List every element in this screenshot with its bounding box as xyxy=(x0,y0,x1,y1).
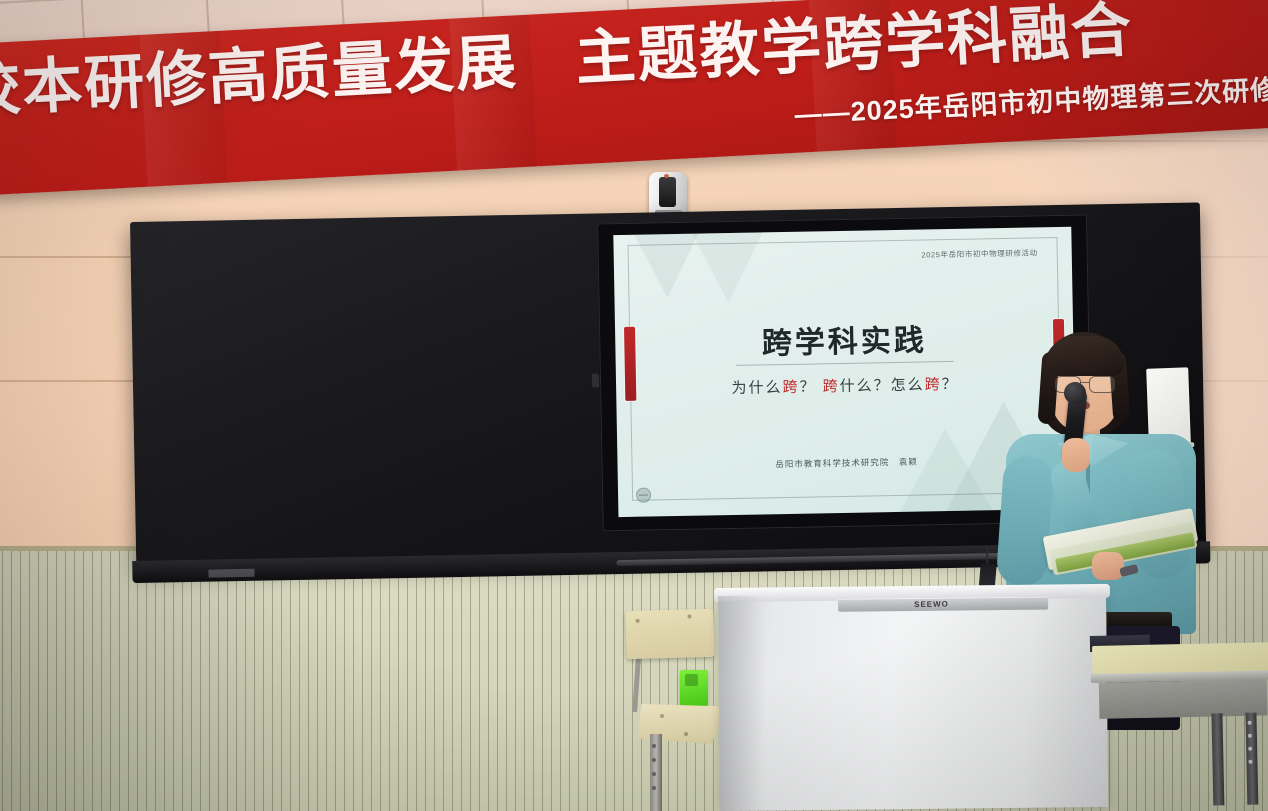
slide-subtitle-text: ？ xyxy=(942,376,959,393)
slide-subtitle-accent: 跨 xyxy=(782,379,799,396)
lectern-brand-label: SEEWO xyxy=(914,600,949,609)
lectern: SEEWO xyxy=(718,592,1108,811)
left-arm xyxy=(996,454,1055,587)
green-container xyxy=(680,670,708,708)
hair-bangs xyxy=(1046,336,1124,376)
display-side-button[interactable] xyxy=(592,373,599,387)
classroom-photo-scene: 校本研修高质量发展主题教学跨学科融合 ——2025年岳阳市初中物理第三次研修活动 xyxy=(0,0,1268,811)
slide-subtitle-text: ？ xyxy=(799,378,822,395)
student-desk xyxy=(1092,642,1268,811)
banner-title-part1: 校本研修高质量发展 xyxy=(0,28,519,124)
chair-backrest xyxy=(625,609,714,659)
board-brand-plate xyxy=(208,569,254,578)
slide-subtitle-accent: 跨 xyxy=(823,378,840,395)
desk-apron xyxy=(1099,679,1268,719)
slide-subtitle-accent: 跨 xyxy=(925,376,942,393)
desk-leg xyxy=(1211,713,1224,805)
slide-header-text: 2025年岳阳市初中物理研修活动 xyxy=(921,247,1037,260)
slide-subtitle-text: 为什么 xyxy=(731,379,782,397)
chair-leg-holes xyxy=(652,744,656,800)
slide-subtitle-text: 什么？怎么 xyxy=(840,376,925,395)
hand-holding-booklet xyxy=(1092,552,1124,580)
hand-holding-microphone xyxy=(1062,438,1090,472)
